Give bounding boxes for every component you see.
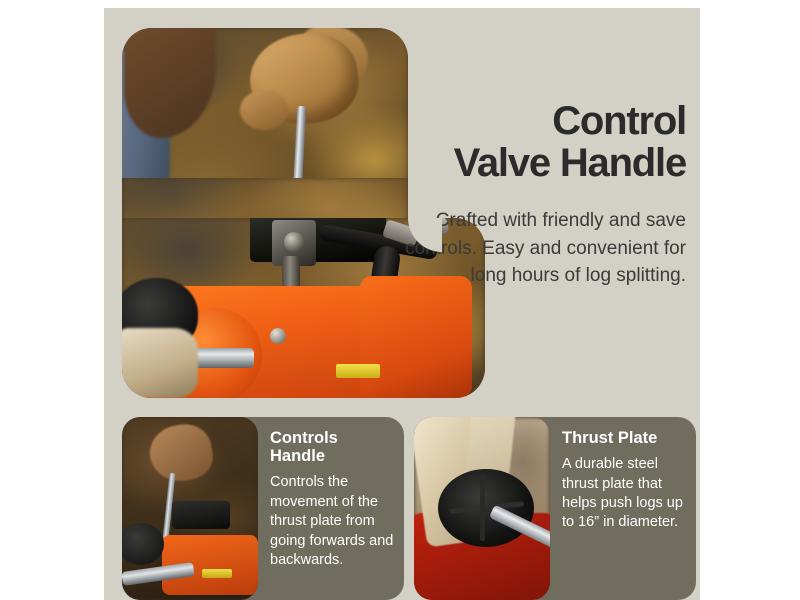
card-photo-controls-handle [122,417,258,600]
card-title: Thrust Plate [562,429,686,447]
feature-card-controls-handle: Controls Handle Controls the movement of… [122,417,404,600]
card-body-controls-handle: Controls Handle Controls the movement of… [258,417,404,600]
warning-decal [202,569,232,578]
card-body-thrust-plate: Thrust Plate A durable steel thrust plat… [550,417,696,600]
split-log [122,328,198,398]
warning-decal [336,364,380,378]
feature-card-thrust-plate: Thrust Plate A durable steel thrust plat… [414,417,696,600]
thrust-plate-vane-vertical [480,475,485,541]
glove-thumb [240,90,288,130]
card-text: A durable steel thrust plate that helps … [562,455,686,533]
card-photo-thrust-plate [414,417,550,600]
control-valve-stem [282,256,300,290]
hero-text-block: Control Valve Handle Crafted with friend… [386,100,686,290]
orange-cylinder-housing [360,276,472,398]
page-title: Control Valve Handle [386,100,686,185]
control-valve-pivot [284,232,304,252]
control-valve-block [172,501,230,529]
product-feature-canvas: Control Valve Handle Crafted with friend… [104,8,700,600]
hero-title-line-1: Control [552,99,686,143]
card-title: Controls Handle [270,429,394,465]
card-text: Controls the movement of the thrust plat… [270,473,394,570]
hero-title-line-2: Valve Handle [454,141,686,185]
bolt [270,328,286,344]
hero-section: Control Valve Handle Crafted with friend… [104,8,700,408]
